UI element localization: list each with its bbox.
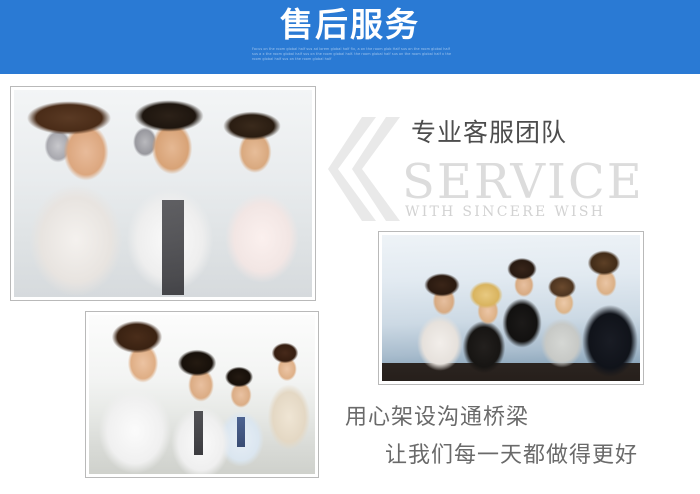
slogan-line-1: 用心架设沟通桥梁 [345,403,529,433]
service-heading-chinese: 专业客服团队 [411,117,567,149]
photo-call-center-team-image [14,90,312,297]
double-chevron-left-icon [328,117,400,221]
header-subtext: Focus on the room global half sus ad lor… [252,47,452,63]
header-band: 售后服务 Focus on the room global half sus a… [0,0,700,74]
photo-training-meeting-image [89,315,315,474]
photo-boardroom-discussion-image [382,235,640,381]
slogan-line-2: 让我们每一天都做得更好 [385,441,638,471]
photo-call-center-team [10,86,316,301]
photo-boardroom-discussion [378,231,644,385]
page-title: 售后服务 [0,4,700,46]
service-wordmark: SERVICE [402,157,644,207]
service-page: 售后服务 Focus on the room global half sus a… [0,0,700,494]
photo-training-meeting [85,311,319,478]
service-tagline: WITH SINCERE WISH [405,203,605,221]
